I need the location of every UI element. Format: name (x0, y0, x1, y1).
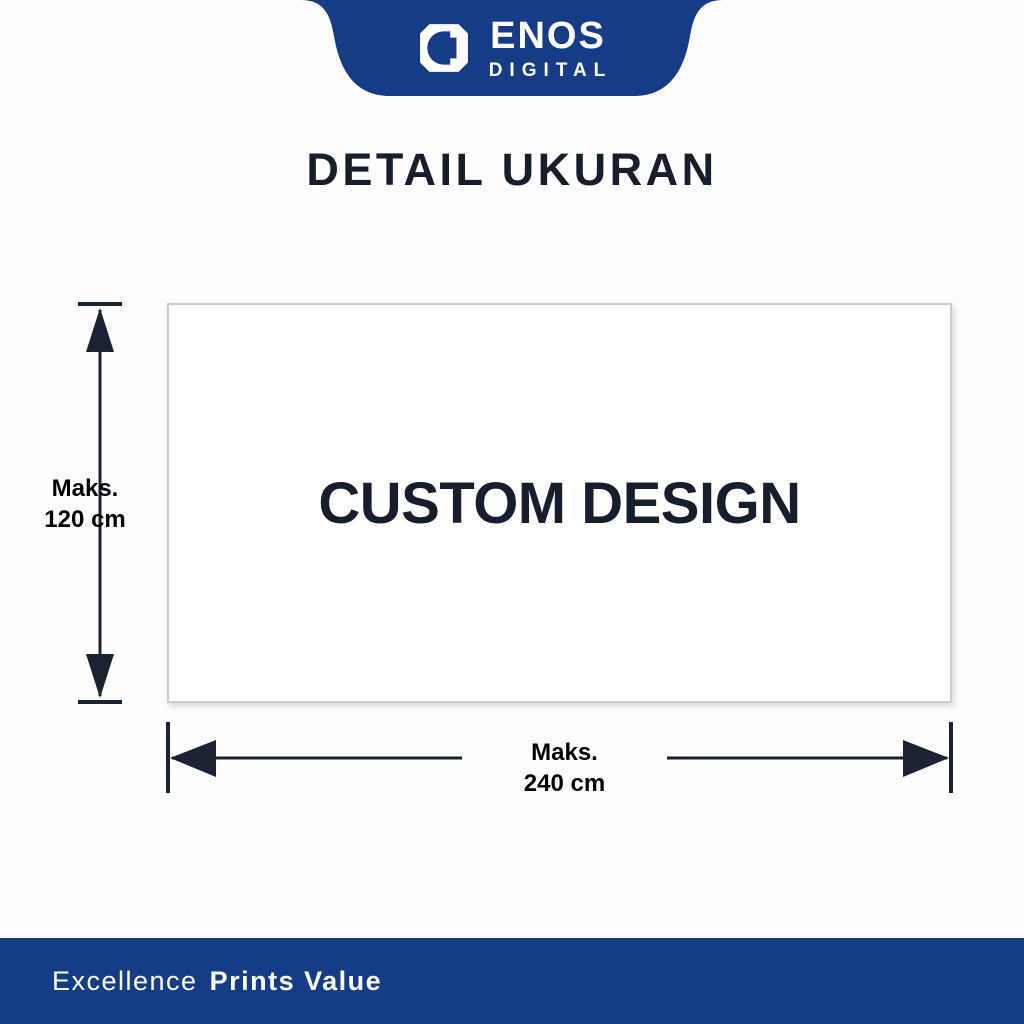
header-banner: ENOS DIGITAL (0, 0, 1024, 112)
width-dimension-line2: 240 cm (472, 769, 657, 800)
footer-tagline-bold: Prints Value (210, 966, 383, 996)
page-title: DETAIL UKURAN (0, 144, 1024, 196)
width-dimension-line1: Maks. (472, 738, 657, 769)
design-area-label: CUSTOM DESIGN (318, 470, 800, 537)
footer-banner: ExcellencePrints Value (0, 938, 1024, 1024)
brand-name: ENOS (490, 17, 606, 55)
brand-lockup: ENOS DIGITAL (320, 0, 710, 96)
footer-tagline-light: Excellence (52, 966, 198, 996)
brand-wordmark: ENOS DIGITAL (484, 17, 613, 80)
height-dimension-label: Maks. 120 cm (10, 474, 160, 535)
height-dimension-line1: Maks. (10, 474, 160, 505)
height-dimension-line2: 120 cm (10, 505, 160, 536)
width-dimension-label: Maks. 240 cm (462, 736, 667, 801)
poster-canvas: ENOS DIGITAL DETAIL UKURAN CUSTOM DESIGN (0, 0, 1024, 1024)
design-area-box[interactable]: CUSTOM DESIGN (167, 303, 952, 703)
brand-subtitle: DIGITAL (489, 61, 613, 80)
footer-tagline: ExcellencePrints Value (52, 966, 382, 997)
enos-octagon-c-logo-icon (418, 22, 470, 74)
